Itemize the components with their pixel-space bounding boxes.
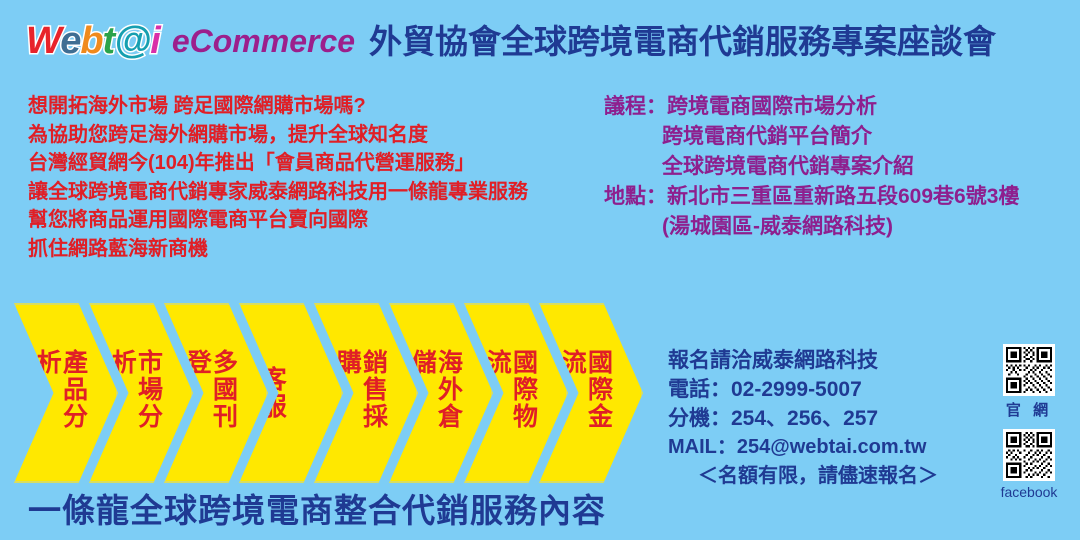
contact-email: MAIL：254@webtai.com.tw xyxy=(668,433,978,462)
contact-company: 報名請洽威泰網路科技 xyxy=(668,346,978,375)
agenda-line: 全球跨境電商代銷專案介紹 xyxy=(604,152,1074,182)
poster-header: Webt@i eCommerce 外貿協會全球跨境電商代銷服務專案座談會 xyxy=(26,22,996,60)
qr-code-facebook[interactable] xyxy=(1003,429,1055,481)
contact-block: 報名請洽威泰網路科技 電話：02-2999-5007 分機：254、256、25… xyxy=(668,346,978,491)
agenda-block: 議程：跨境電商國際市場分析 跨境電商代銷平台簡介 全球跨境電商代銷專案介紹 地點… xyxy=(604,92,1074,242)
webtai-logo: Webt@i xyxy=(26,22,160,60)
intro-line: 為協助您跨足海外網購市場，提升全球知名度 xyxy=(28,121,608,150)
page-title: 外貿協會全球跨境電商代銷服務專案座談會 xyxy=(369,25,996,58)
venue-line: 地點：新北市三重區重新路五段609巷6號3樓 xyxy=(604,182,1074,212)
bottom-tagline: 一條龍全球跨境電商整合代銷服務內容 xyxy=(28,484,606,532)
intro-block: 想開拓海外市場 跨足國際網購市場嗎? 為協助您跨足海外網購市場，提升全球知名度 … xyxy=(28,92,608,263)
intro-line: 讓全球跨境電商代銷專家威泰網路科技用一條龍專業服務 xyxy=(28,178,608,207)
qr-official-icon xyxy=(1006,347,1052,393)
logo-letter-t: t xyxy=(103,20,115,62)
poster-canvas: Webt@i eCommerce 外貿協會全球跨境電商代銷服務專案座談會 想開拓… xyxy=(0,0,1080,540)
process-step-label: 產品分析 xyxy=(34,349,87,437)
intro-line: 台灣經貿網今(104)年推出「會員商品代營運服務」 xyxy=(28,149,608,178)
contact-phone: 電話：02-2999-5007 xyxy=(668,375,978,404)
logo-letter-at: @ xyxy=(114,20,150,62)
agenda-line: 跨境電商代銷平台簡介 xyxy=(604,122,1074,152)
contact-note: ＜名額有限，請儘速報名＞ xyxy=(668,462,978,491)
qr-facebook-label: facebook xyxy=(989,484,1069,500)
qr-code-zone: 官 網 xyxy=(989,344,1069,509)
qr-official-label: 官 網 xyxy=(989,399,1069,420)
agenda-line: 議程：跨境電商國際市場分析 xyxy=(604,92,1074,122)
intro-line: 幫您將商品運用國際電商平台賣向國際 xyxy=(28,206,608,235)
qr-facebook-icon xyxy=(1006,432,1052,478)
qr-code-official-website[interactable] xyxy=(1003,344,1055,396)
logo-letter-e: e xyxy=(60,20,80,62)
venue-line: (湯城園區-威泰網路科技) xyxy=(604,212,1074,242)
logo-letter-w: W xyxy=(26,20,60,62)
process-flow: 產品分析 市場分析 多國刊登 客服 銷售採購 海外倉儲 國際物流 國際金流 xyxy=(14,303,654,483)
intro-line: 想開拓海外市場 跨足國際網購市場嗎? xyxy=(28,92,608,121)
intro-line: 抓住網路藍海新商機 xyxy=(28,235,608,264)
logo-letter-i: i xyxy=(150,20,160,62)
ecommerce-wordmark: eCommerce xyxy=(172,25,355,57)
contact-extension: 分機：254、256、257 xyxy=(668,404,978,433)
logo-letter-b: b xyxy=(80,20,102,62)
